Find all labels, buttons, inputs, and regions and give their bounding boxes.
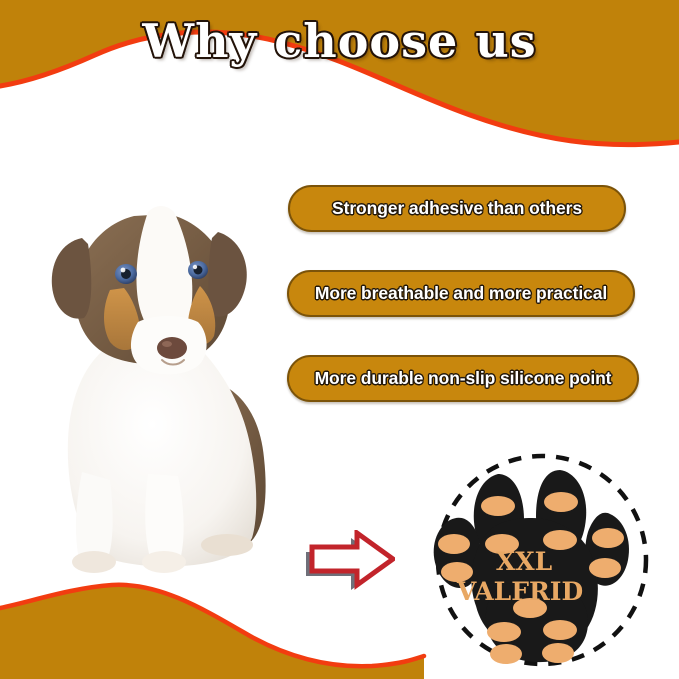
feature-pill-1[interactable]: Stronger adhesive than others — [288, 185, 626, 232]
feature-pill-2-label: More breathable and more practical — [315, 283, 607, 304]
dog-ear-right — [209, 232, 247, 317]
footer-wave — [0, 560, 679, 679]
feature-pill-3[interactable]: More durable non-slip silicone point — [287, 355, 639, 402]
dog-photo — [22, 182, 298, 574]
dog-nose-highlight — [162, 341, 172, 347]
page-title: Why choose us — [0, 14, 679, 68]
dog-eye-left-glint — [121, 268, 126, 273]
silicone-dot — [592, 528, 624, 548]
feature-list: Stronger adhesive than others More breat… — [287, 185, 639, 440]
dog-nose — [157, 337, 187, 359]
promo-banner: Why choose us — [0, 0, 679, 679]
silicone-dot — [481, 496, 515, 516]
feature-pill-3-label: More durable non-slip silicone point — [315, 368, 612, 389]
dog-paw-rear — [201, 534, 253, 556]
silicone-dot — [544, 492, 578, 512]
silicone-dot — [438, 534, 470, 554]
feature-pill-1-label: Stronger adhesive than others — [332, 198, 582, 219]
dog-eye-right-glint — [193, 265, 197, 269]
dog-ear-left — [52, 238, 91, 319]
feature-pill-2[interactable]: More breathable and more practical — [287, 270, 635, 317]
dog-body-group — [52, 206, 266, 573]
